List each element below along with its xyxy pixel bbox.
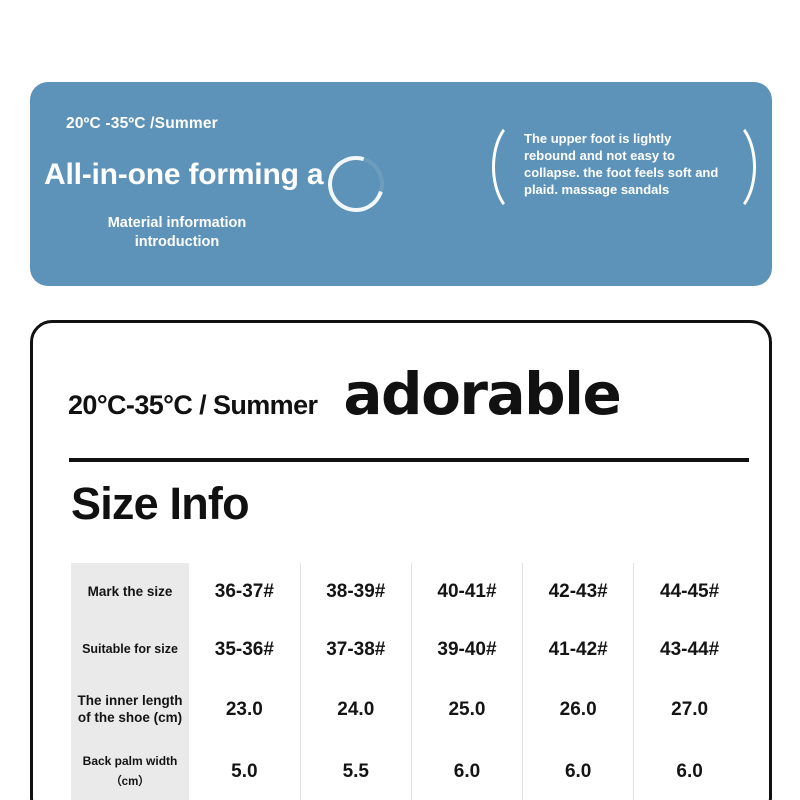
card-temperature-label: 20°C-35°C / Summer <box>68 390 317 421</box>
table-cell: 44-45# <box>634 563 745 621</box>
row-label: Mark the size <box>71 563 189 621</box>
brand-wordmark: adorable <box>343 365 620 423</box>
card-header: 20°C-35°C / Summer adorable <box>68 365 748 439</box>
table-cell: 25.0 <box>411 679 522 741</box>
table-cell: 27.0 <box>634 679 745 741</box>
table-cell: 6.0 <box>634 741 745 800</box>
row-label: Suitable for size <box>71 621 189 679</box>
row-label-main: Back palm width <box>83 754 178 768</box>
page-title: Size Info <box>71 478 249 530</box>
banner-temperature-label: 20ºC -35ºC /Summer <box>66 115 218 133</box>
table-cell: 6.0 <box>411 741 522 800</box>
banner-headline: All-in-one forming a <box>44 158 323 192</box>
table-cell: 26.0 <box>523 679 634 741</box>
table-cell: 5.5 <box>300 741 411 800</box>
row-label: Back palm width （cm） <box>71 741 189 800</box>
right-bracket-icon <box>730 118 756 210</box>
table-cell: 24.0 <box>300 679 411 741</box>
table-cell: 38-39# <box>300 563 411 621</box>
circle-ring-icon <box>318 146 394 222</box>
table-cell: 39-40# <box>411 621 522 679</box>
table-cell: 35-36# <box>189 621 300 679</box>
size-info-card: 20°C-35°C / Summer adorable Size Info Ma… <box>30 320 772 800</box>
table-cell: 42-43# <box>523 563 634 621</box>
table-cell: 23.0 <box>189 679 300 741</box>
size-table: Mark the size 36-37# 38-39# 40-41# 42-43… <box>71 563 745 800</box>
table-cell: 37-38# <box>300 621 411 679</box>
header-divider <box>69 458 749 462</box>
table-cell: 40-41# <box>411 563 522 621</box>
table-cell: 36-37# <box>189 563 300 621</box>
row-label-unit: （cm） <box>75 775 185 789</box>
table-row: Back palm width （cm） 5.0 5.5 6.0 6.0 6.0 <box>71 741 745 800</box>
table-row: Mark the size 36-37# 38-39# 40-41# 42-43… <box>71 563 745 621</box>
banner-quote-block: The upper foot is lightly rebound and no… <box>492 108 756 220</box>
row-label: The inner length of the shoe (cm) <box>71 679 189 741</box>
left-bracket-icon <box>492 118 518 210</box>
table-cell: 6.0 <box>523 741 634 800</box>
table-row: Suitable for size 35-36# 37-38# 39-40# 4… <box>71 621 745 679</box>
table-row: The inner length of the shoe (cm) 23.0 2… <box>71 679 745 741</box>
banner-subtitle: Material information introduction <box>52 214 302 251</box>
table-cell: 5.0 <box>189 741 300 800</box>
promo-banner: 20ºC -35ºC /Summer All-in-one forming a … <box>30 82 772 286</box>
product-detail-page: 20ºC -35ºC /Summer All-in-one forming a … <box>0 0 800 800</box>
table-cell: 43-44# <box>634 621 745 679</box>
table-cell: 41-42# <box>523 621 634 679</box>
